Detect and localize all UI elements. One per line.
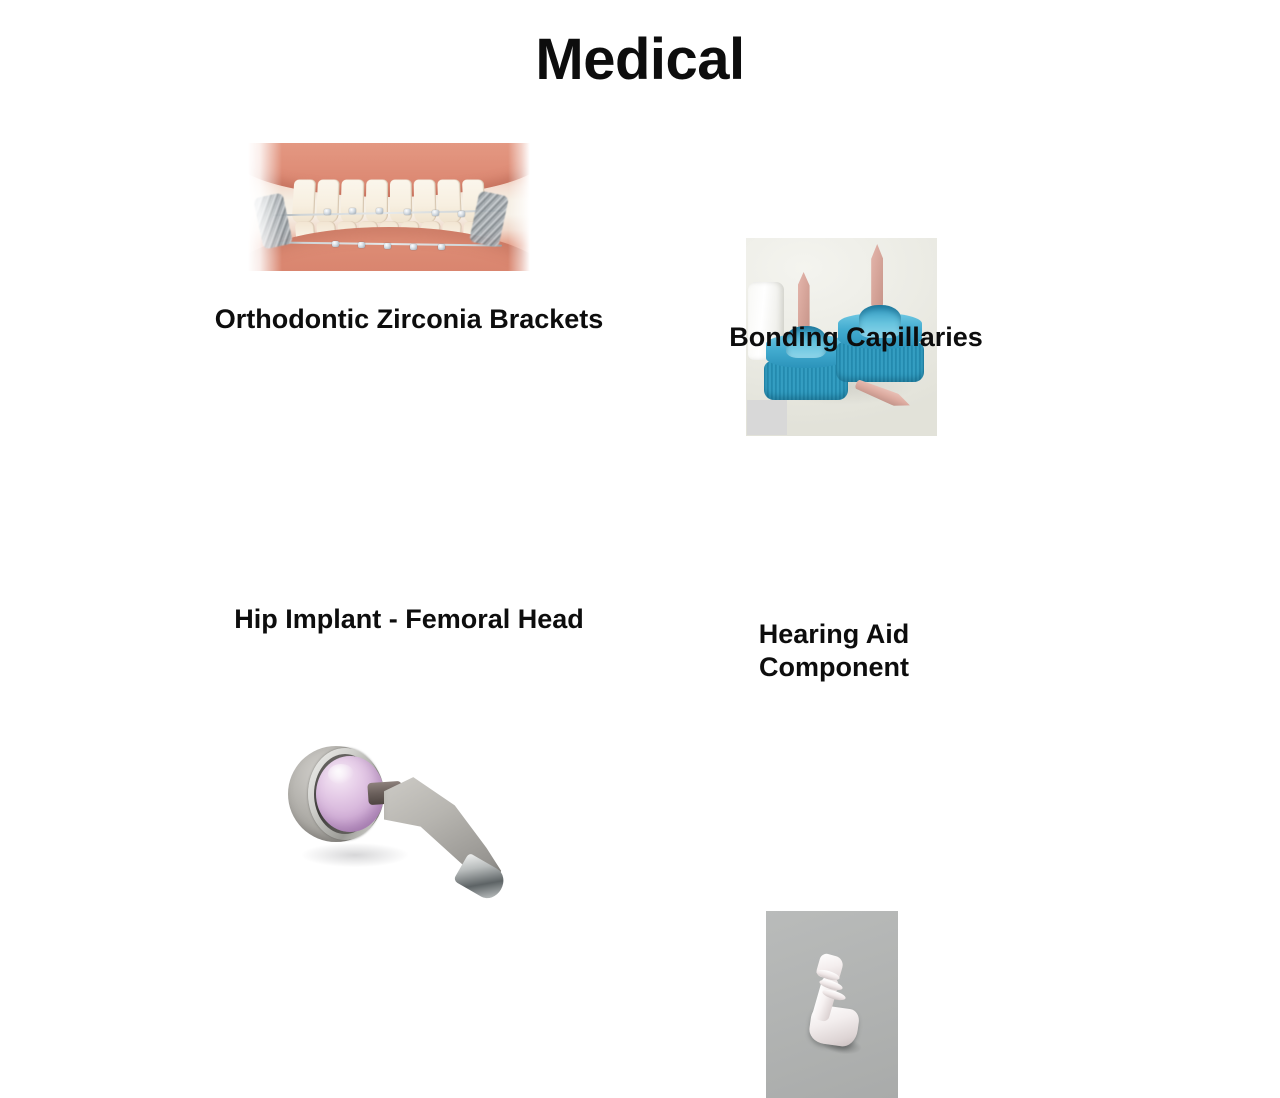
tooth (292, 180, 317, 224)
caption-hip-implant: Hip Implant - Femoral Head (209, 603, 609, 636)
caption-hearing-aid-component: Hearing Aid Component (704, 618, 964, 685)
page-title: Medical (0, 30, 1280, 91)
bracket (324, 209, 331, 215)
bracket (358, 242, 365, 248)
tooth (365, 180, 388, 224)
bracket (349, 208, 356, 214)
bracket (432, 210, 439, 216)
drop-shadow (280, 838, 430, 872)
grey-overlay-patch (747, 400, 787, 435)
image-orthodontic-brackets (248, 143, 530, 271)
bracket (332, 241, 339, 247)
tooth (341, 180, 364, 224)
bracket (410, 244, 417, 250)
bracket (458, 211, 465, 217)
bracket (404, 209, 411, 215)
tooth (316, 180, 340, 224)
caption-bonding-capillaries: Bonding Capillaries (666, 321, 1046, 354)
image-hearing-aid-component (766, 911, 898, 1098)
image-hip-implant (272, 734, 518, 914)
bracket (438, 244, 445, 250)
caption-orthodontic-brackets: Orthodontic Zirconia Brackets (214, 303, 604, 336)
capillary-tip (798, 272, 810, 328)
tooth (414, 180, 437, 224)
photo-edge-fade (508, 143, 530, 271)
specular-highlight (328, 764, 354, 784)
tooth (390, 180, 413, 224)
capillary-tip (871, 244, 883, 306)
photo-edge-fade (248, 143, 282, 271)
bracket (384, 243, 391, 249)
upper-teeth-row (292, 180, 486, 224)
bracket (376, 208, 383, 214)
